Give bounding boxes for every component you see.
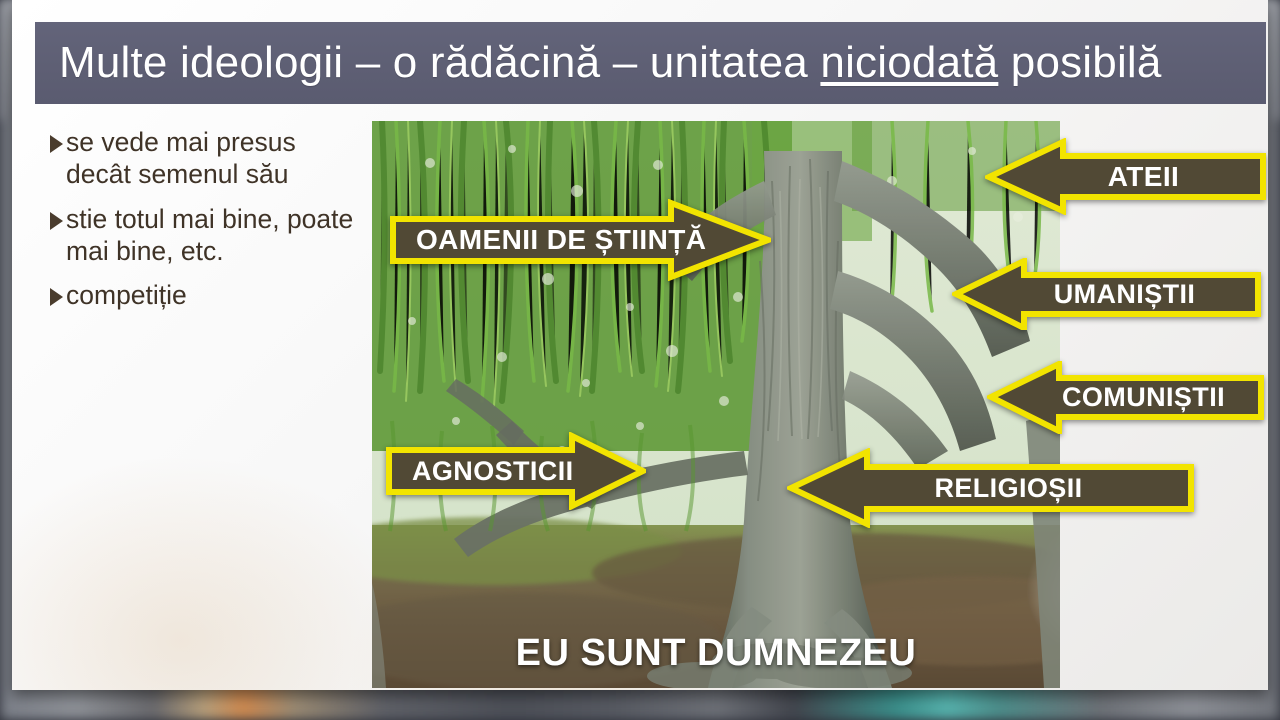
arrow-label: COMUNIȘTII [987, 382, 1264, 413]
title-part-before: Multe ideologii – o rădăcină – unitatea [59, 38, 820, 87]
arrow-banner-oamenii-de-stiinta[interactable]: OAMENII DE ȘTIINȚĂ [390, 199, 771, 281]
slide-title-bar: Multe ideologii – o rădăcină – unitatea … [35, 22, 1266, 104]
triangle-bullet-icon [50, 135, 63, 153]
list-item-label: stie totul mai bine, poate mai bine, etc… [66, 203, 360, 268]
arrow-banner-umanistii[interactable]: UMANIȘTII [952, 258, 1261, 330]
title-part-underlined: niciodată [820, 38, 998, 87]
list-item: se vede mai presus decât semenul său [50, 126, 360, 191]
arrow-banner-agnosticii[interactable]: AGNOSTICII [386, 432, 646, 510]
presentation-slide: Multe ideologii – o rădăcină – unitatea … [12, 0, 1268, 690]
arrow-banner-comunistii[interactable]: COMUNIȘTII [987, 361, 1264, 434]
list-item: stie totul mai bine, poate mai bine, etc… [50, 203, 360, 268]
title-part-after: posibilă [998, 38, 1161, 87]
arrow-banner-religiosii[interactable]: RELIGIOȘII [787, 448, 1194, 528]
arrow-label: RELIGIOȘII [787, 473, 1194, 504]
list-item: competiție [50, 279, 360, 311]
list-item-label: competiție [66, 279, 187, 311]
list-item-label: se vede mai presus decât semenul său [66, 126, 360, 191]
arrow-label: ATEII [985, 161, 1266, 193]
slide-background-wash [12, 440, 432, 690]
arrow-label: AGNOSTICII [386, 456, 574, 487]
arrow-label: OAMENII DE ȘTIINȚĂ [390, 224, 706, 256]
bullet-list: se vede mai presus decât semenul său sti… [50, 126, 360, 324]
page-title: Multe ideologii – o rădăcină – unitatea … [35, 38, 1162, 88]
triangle-bullet-icon [50, 288, 63, 306]
triangle-bullet-icon [50, 212, 63, 230]
arrow-banner-ateii[interactable]: ATEII [985, 138, 1266, 215]
arrow-label: UMANIȘTII [952, 279, 1261, 310]
